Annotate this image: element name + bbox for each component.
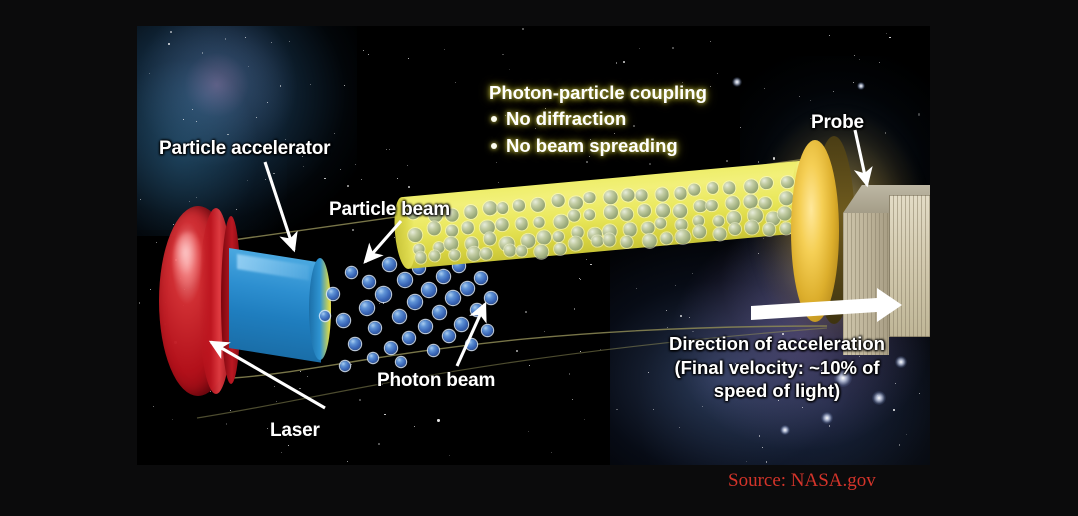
photon-sphere: [567, 209, 581, 223]
photon-sphere: [530, 197, 545, 212]
callout-bullet-1-text: No diffraction: [506, 106, 626, 132]
particle-sphere: [461, 282, 474, 295]
photon-sphere: [482, 201, 497, 216]
particle-sphere: [408, 295, 422, 309]
particle-sphere: [428, 345, 439, 356]
photon-sphere: [623, 222, 638, 237]
particle-sphere: [337, 314, 350, 327]
photon-sphere: [449, 249, 461, 261]
particle-sphere: [398, 273, 412, 287]
photon-sphere: [427, 221, 441, 235]
photon-sphere: [692, 225, 706, 239]
accelerator-end-cap: [309, 258, 331, 360]
particle-sphere: [383, 258, 396, 271]
particle-sphere: [446, 291, 460, 305]
particle-sphere: [471, 304, 483, 316]
photon-sphere: [706, 181, 719, 194]
particle-sphere: [368, 353, 378, 363]
photon-sphere: [674, 186, 688, 200]
particle-sphere: [443, 330, 455, 342]
photon-sphere: [551, 194, 565, 208]
photon-sphere: [642, 233, 658, 249]
photon-sphere: [620, 207, 634, 221]
photon-sphere: [743, 194, 759, 210]
particle-sphere: [437, 270, 450, 283]
target-disc-face: [791, 140, 839, 322]
callout-bullet-2-text: No beam spreading: [506, 133, 678, 159]
photon-sphere: [428, 250, 440, 262]
particle-sphere: [393, 310, 406, 323]
photon-sphere: [728, 222, 741, 235]
photon-sphere: [483, 232, 497, 246]
photon-sphere: [693, 199, 707, 213]
direction-note-line-3: speed of light): [637, 379, 917, 403]
photon-sphere: [568, 235, 584, 251]
direction-note-line-1: Direction of acceleration: [637, 332, 917, 356]
photon-sphere: [713, 215, 725, 227]
photon-sphere: [461, 221, 475, 235]
label-laser: Laser: [270, 420, 320, 442]
bullet-dot-icon: [491, 143, 497, 149]
particle-sphere: [349, 338, 361, 350]
particle-sphere: [419, 320, 432, 333]
particle-sphere: [327, 288, 339, 300]
callout-bullet-2: No beam spreading: [489, 133, 707, 159]
photon-sphere: [515, 217, 529, 231]
photon-sphere: [760, 176, 774, 190]
photon-sphere: [722, 181, 736, 195]
photon-particle-coupling-callout: Photon-particle coupling No diffraction …: [489, 80, 707, 159]
probe-side-face: [889, 195, 930, 337]
photon-sphere: [713, 227, 727, 241]
laser-highlight: [173, 232, 203, 288]
photon-sphere: [496, 202, 508, 214]
particle-sphere: [363, 276, 375, 288]
particle-sphere: [422, 283, 436, 297]
photon-sphere: [444, 236, 459, 251]
particle-sphere: [340, 361, 350, 371]
photon-sphere: [503, 244, 516, 257]
photon-sphere: [568, 195, 583, 210]
photon-sphere: [584, 192, 596, 204]
direction-of-acceleration-note: Direction of acceleration (Final velocit…: [637, 332, 917, 403]
photon-sphere: [584, 209, 596, 221]
photon-sphere: [553, 214, 569, 230]
direction-note-line-2: (Final velocity: ~10% of: [637, 356, 917, 380]
particle-sphere: [482, 325, 493, 336]
photon-sphere: [706, 200, 718, 212]
photon-sphere: [533, 216, 545, 228]
particle-sphere: [466, 339, 477, 350]
photon-sphere: [466, 246, 481, 261]
label-particle-beam: Particle beam: [329, 199, 450, 221]
photon-sphere: [675, 229, 690, 244]
particle-sphere: [433, 306, 446, 319]
photon-sphere: [537, 230, 552, 245]
bullet-dot-icon: [491, 116, 497, 122]
photon-sphere: [621, 188, 635, 202]
photon-sphere: [655, 217, 667, 229]
particle-sphere: [360, 301, 374, 315]
photon-sphere: [603, 233, 617, 247]
photon-sphere: [638, 204, 652, 218]
photon-sphere: [513, 199, 525, 211]
particle-sphere: [455, 318, 468, 331]
photon-sphere: [604, 205, 619, 220]
photon-sphere: [591, 235, 603, 247]
particle-sphere: [485, 292, 497, 304]
photon-sphere: [415, 251, 428, 264]
photon-sphere: [660, 231, 673, 244]
photon-sphere: [744, 179, 759, 194]
photon-sphere: [480, 247, 493, 260]
photon-sphere: [688, 183, 701, 196]
photon-sphere: [641, 221, 655, 235]
page-root: Particle accelerator Particle beam Laser…: [0, 0, 1078, 516]
photon-sphere: [552, 231, 564, 243]
callout-heading: Photon-particle coupling: [489, 80, 707, 106]
source-credit: Source: NASA.gov: [728, 470, 876, 492]
photon-sphere: [635, 189, 648, 202]
photon-sphere: [603, 189, 618, 204]
photon-sphere: [495, 218, 509, 232]
photon-sphere: [445, 224, 458, 237]
label-particle-accelerator: Particle accelerator: [159, 138, 330, 160]
photon-sphere: [655, 203, 670, 218]
photon-sphere: [655, 187, 670, 202]
particle-sphere: [320, 311, 330, 321]
photon-sphere: [672, 203, 687, 218]
particle-sphere: [369, 322, 381, 334]
photon-sphere: [725, 196, 740, 211]
callout-bullet-1: No diffraction: [489, 106, 707, 132]
label-photon-beam: Photon beam: [377, 370, 495, 392]
photon-sphere: [777, 206, 792, 221]
particle-sphere: [475, 272, 487, 284]
photon-sphere: [763, 223, 776, 236]
photon-sphere: [553, 242, 566, 255]
particle-sphere: [346, 267, 357, 278]
particle-sphere: [403, 332, 415, 344]
photon-sphere: [620, 236, 633, 249]
particle-sphere: [385, 342, 397, 354]
particle-sphere: [376, 287, 391, 302]
label-probe: Probe: [811, 112, 864, 134]
photon-sphere: [463, 204, 478, 219]
particle-sphere: [396, 357, 406, 367]
diagram-figure: Particle accelerator Particle beam Laser…: [137, 26, 930, 465]
photon-sphere: [758, 196, 772, 210]
